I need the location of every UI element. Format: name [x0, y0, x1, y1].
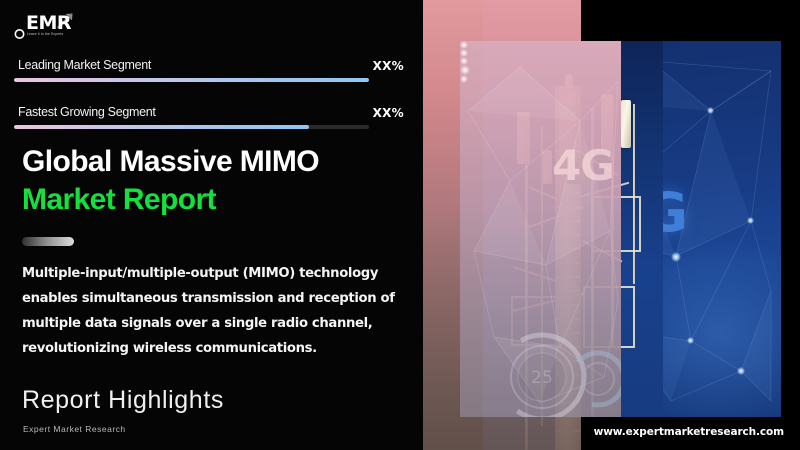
page-title: Global Massive MIMO Market Report	[22, 143, 319, 219]
circular-gauge-graphic: 25	[494, 321, 621, 417]
company-name: Expert Market Research	[23, 424, 126, 434]
report-cover: 5G	[0, 0, 800, 450]
network-node-dot	[671, 252, 681, 262]
label-4g: 4G	[552, 141, 614, 190]
metric-progress-track	[14, 125, 369, 129]
title-line-1: Global Massive MIMO	[22, 143, 319, 181]
artwork-panel: 5G	[423, 0, 800, 450]
network-node-dot	[747, 217, 754, 224]
metric-progress-fill	[14, 78, 369, 82]
title-divider	[22, 237, 74, 246]
metric-leading-market-segment: Leading Market Segment XX%	[14, 58, 404, 80]
svg-text:25: 25	[531, 368, 553, 388]
website-url[interactable]: www.expertmarketresearch.com	[594, 426, 784, 438]
network-node-dot	[707, 107, 714, 114]
tower-leg	[633, 104, 635, 284]
title-line-2: Market Report	[22, 181, 319, 219]
pink-overlay-panel: 25 4G	[423, 0, 621, 450]
artwork-mask-right	[781, 0, 800, 450]
emr-logo[interactable]: EMR Leave it to the Experts	[14, 10, 80, 44]
artwork-mask-top	[581, 0, 800, 41]
metric-value: XX%	[373, 59, 404, 73]
metric-value: XX%	[373, 106, 404, 120]
sector-antenna	[621, 100, 631, 148]
pink-inner-panel: 25 4G	[460, 41, 621, 417]
metric-progress-track	[14, 78, 369, 82]
logo-wordmark: EMR	[26, 12, 71, 34]
metric-label: Fastest Growing Segment	[18, 105, 156, 119]
section-heading: Report Highlights	[22, 386, 224, 415]
network-node-dot	[687, 337, 694, 344]
network-node-dot	[737, 367, 745, 375]
metric-fastest-growing-segment: Fastest Growing Segment XX%	[14, 105, 404, 127]
logo-tagline: Leave it to the Experts	[27, 32, 63, 36]
description-text: Multiple-input/multiple-output (MIMO) te…	[22, 261, 414, 361]
metric-label: Leading Market Segment	[18, 58, 151, 72]
metric-progress-fill	[14, 125, 309, 129]
